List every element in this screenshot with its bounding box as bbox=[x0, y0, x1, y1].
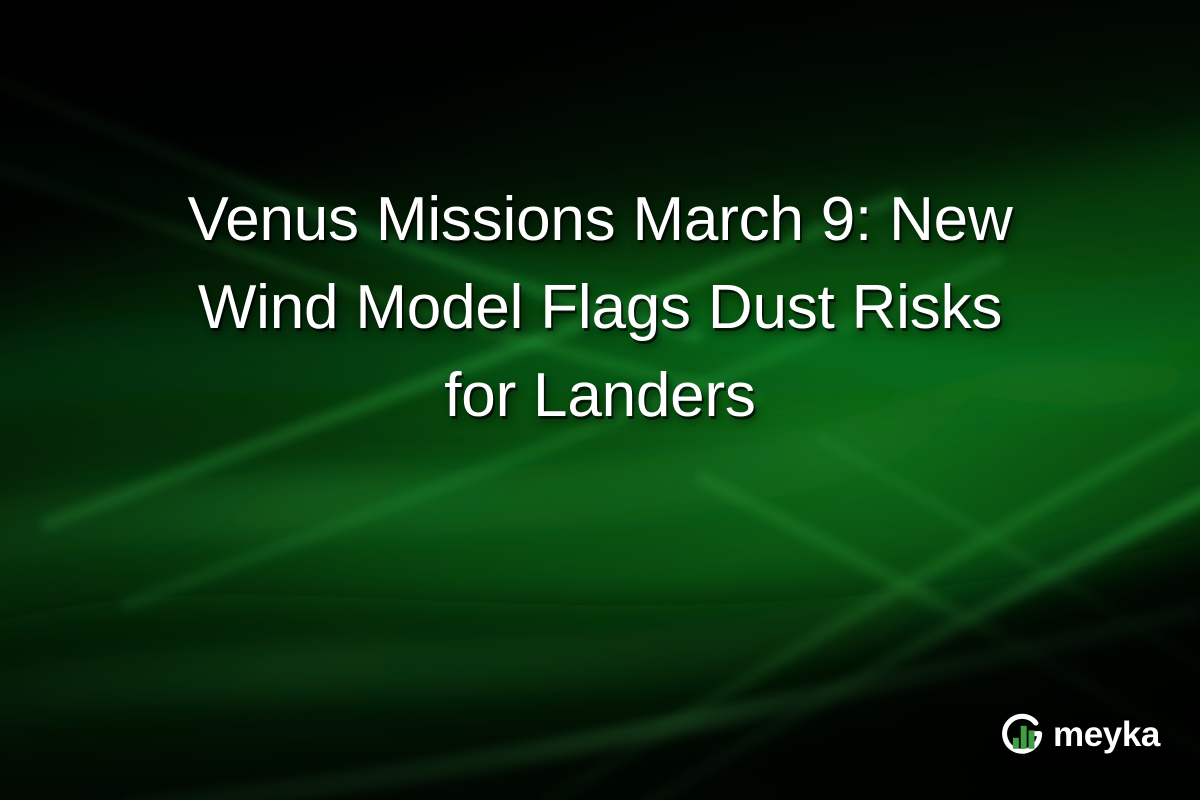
page-title: Venus Missions March 9: New bbox=[187, 176, 1012, 264]
page-title-line-2: Wind Model Flags Dust Risks bbox=[198, 264, 1002, 352]
logo-bars bbox=[1013, 726, 1035, 749]
bar-right bbox=[1029, 730, 1035, 748]
meyka-logo[interactable]: meyka bbox=[1000, 712, 1160, 758]
banner-card: Venus Missions March 9: New Wind Model F… bbox=[0, 0, 1200, 800]
headline-block: Venus Missions March 9: New Wind Model F… bbox=[0, 176, 1200, 440]
meyka-bar-chart-ring-icon bbox=[1000, 712, 1046, 758]
bar-middle bbox=[1021, 726, 1027, 749]
bar-left bbox=[1013, 738, 1019, 749]
page-title-line-3: for Landers bbox=[444, 352, 755, 440]
logo-wordmark: meyka bbox=[1053, 717, 1160, 754]
